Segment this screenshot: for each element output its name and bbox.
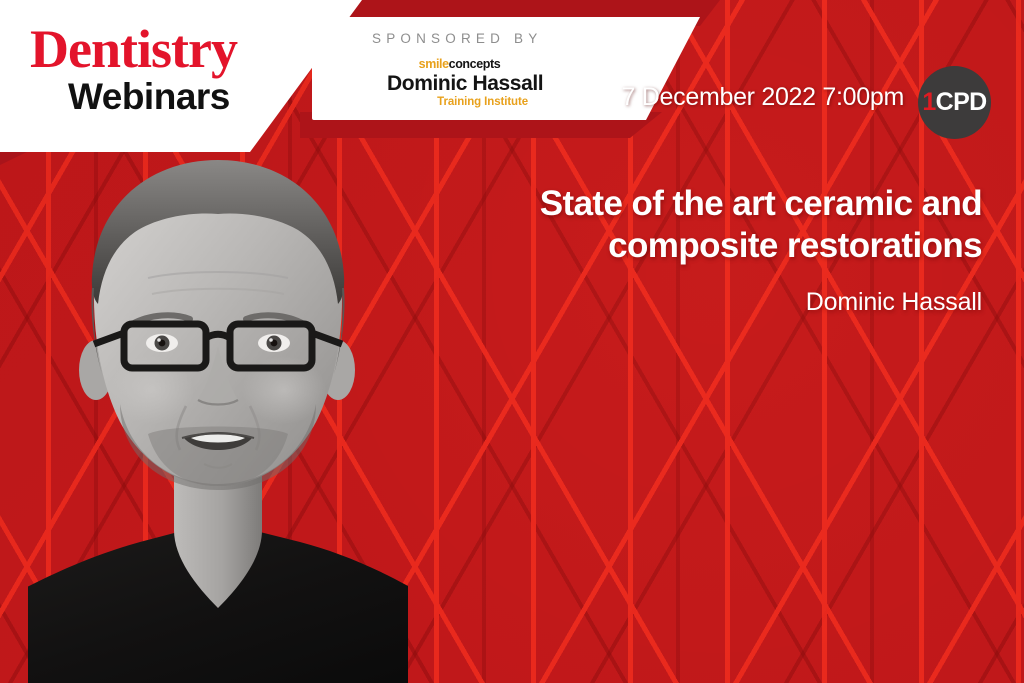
- event-datetime: 7 December 2022 7:00pm: [622, 83, 904, 112]
- sponsor-tagline-text: Training Institute: [387, 96, 532, 109]
- logo-webinars-text: Webinars: [68, 77, 237, 117]
- sponsor-name-text: Dominic Hassall: [387, 72, 532, 95]
- cpd-label-text: CPD: [936, 88, 987, 116]
- smileconcepts-wordmark: smileconcepts: [387, 58, 532, 71]
- smileconcepts-smile-text: smile: [419, 57, 449, 71]
- webinar-promo-banner: Dentistry Webinars SPONSORED BY smilecon…: [0, 0, 1024, 683]
- smileconcepts-concepts-text: concepts: [449, 57, 501, 71]
- webinar-title-block: State of the art ceramic and composite r…: [422, 183, 982, 317]
- speaker-portrait-photo: [28, 138, 408, 683]
- logo-dentistry-text: Dentistry: [30, 22, 237, 76]
- sponsored-by-label: SPONSORED BY: [372, 31, 542, 46]
- webinar-speaker-name: Dominic Hassall: [422, 287, 982, 317]
- webinar-title: State of the art ceramic and composite r…: [422, 183, 982, 267]
- cpd-hours-value: 1: [922, 88, 935, 116]
- cpd-badge: 1CPD: [918, 66, 991, 139]
- sponsor-logo-dominic-hassall[interactable]: smileconcepts Dominic Hassall Training I…: [387, 58, 532, 109]
